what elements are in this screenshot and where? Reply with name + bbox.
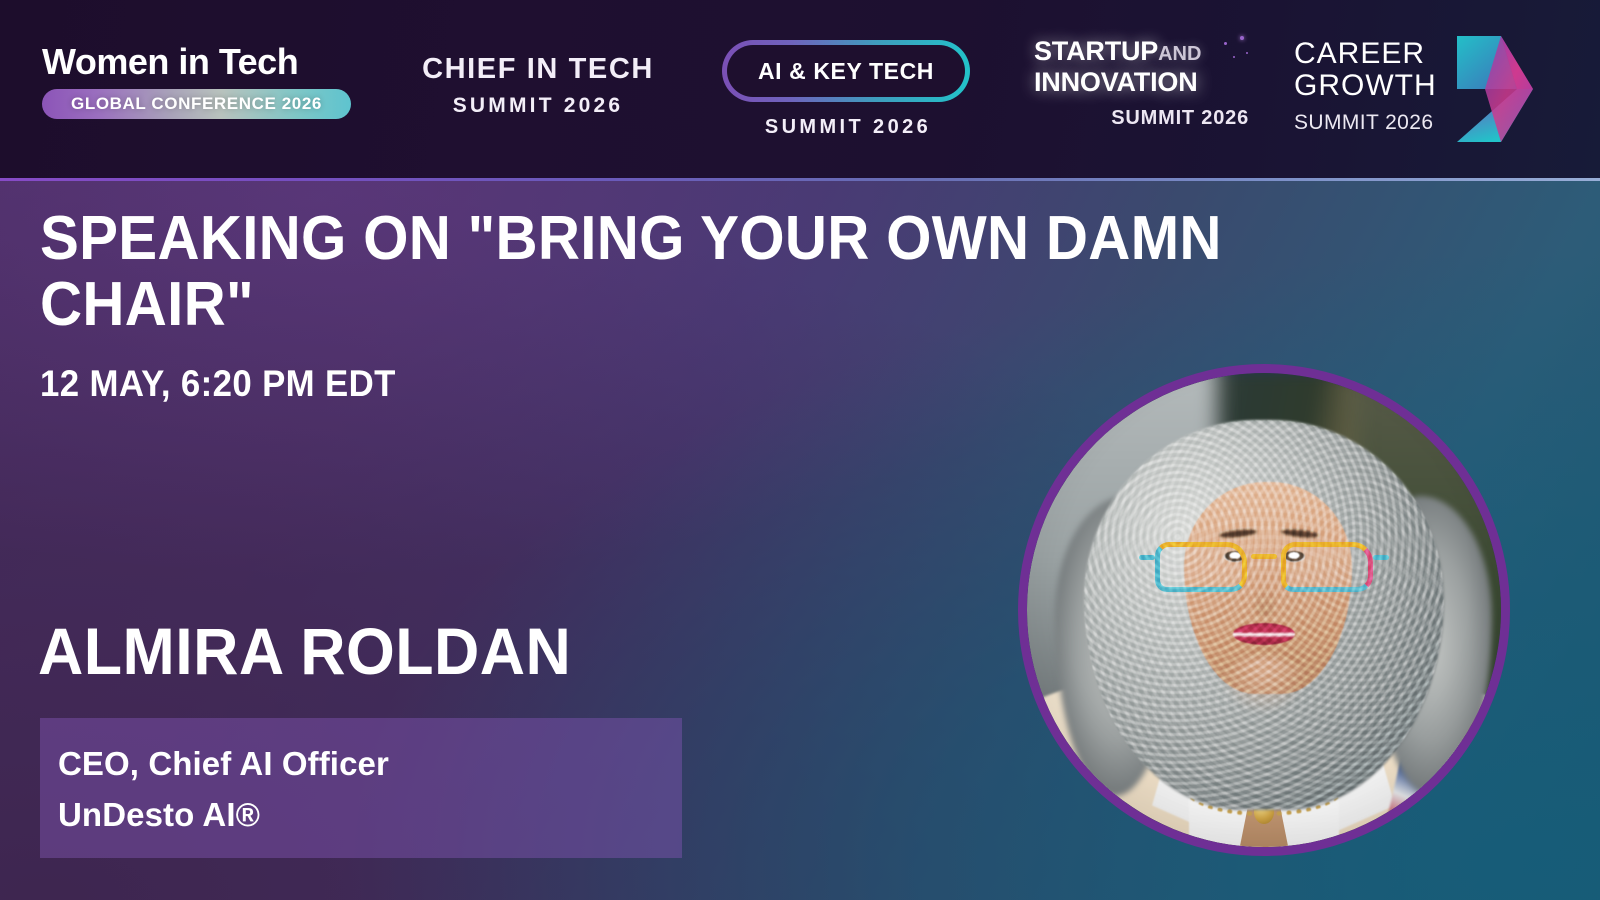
logo-startup-and-innovation-subtitle: SUMMIT 2026 <box>1034 107 1249 130</box>
logo-women-in-tech[interactable]: Women in Tech GLOBAL CONFERENCE 2026 <box>42 44 362 119</box>
logo-ai-and-key-tech-pill-inner: AI & KEY TECH <box>727 45 965 97</box>
logo-chief-in-tech-title: CHIEF IN TECH <box>398 55 678 84</box>
logo-women-in-tech-pill: GLOBAL CONFERENCE 2026 <box>42 89 351 119</box>
sparkle-icon <box>1233 56 1235 58</box>
logo-ai-and-key-tech-pill: AI & KEY TECH <box>722 40 970 102</box>
logo-women-in-tech-title: Women in Tech <box>42 44 362 80</box>
speaker-role-box: CEO, Chief AI Officer UnDesto AI® <box>40 718 682 858</box>
event-promo-banner: Women in Tech GLOBAL CONFERENCE 2026 CHI… <box>0 0 1600 900</box>
session-datetime: 12 MAY, 6:20 PM EDT <box>40 365 396 402</box>
logo-startup-word: STARTUP <box>1034 36 1158 66</box>
logo-ai-and-key-tech-title: AI & KEY TECH <box>758 58 934 85</box>
logo-startup-and-innovation-line1: STARTUPAND <box>1034 38 1249 65</box>
header-divider <box>0 178 1600 181</box>
logo-chief-in-tech-subtitle: SUMMIT 2026 <box>398 95 678 116</box>
speaker-name: ALMIRA ROLDAN <box>38 618 571 684</box>
speaker-role: CEO, Chief AI Officer <box>58 738 682 789</box>
logo-and-word: AND <box>1158 43 1201 65</box>
logo-startup-and-innovation[interactable]: STARTUPAND INNOVATION SUMMIT 2026 <box>1034 38 1249 130</box>
speaker-photo <box>1027 373 1501 847</box>
logo-strip: Women in Tech GLOBAL CONFERENCE 2026 CHI… <box>0 0 1600 181</box>
logo-ai-and-key-tech-subtitle: SUMMIT 2026 <box>722 116 974 139</box>
conference-logo-header: Women in Tech GLOBAL CONFERENCE 2026 CHI… <box>0 0 1600 181</box>
sparkle-icon <box>1246 52 1248 54</box>
sparkle-icon <box>1224 42 1227 45</box>
chevron-arrow-icon <box>1455 34 1535 144</box>
logo-women-in-tech-pill-label: GLOBAL CONFERENCE 2026 <box>71 94 322 114</box>
logo-chief-in-tech[interactable]: CHIEF IN TECH SUMMIT 2026 <box>398 55 678 116</box>
photo-vignette <box>1027 373 1501 847</box>
speaker-company: UnDesto AI® <box>58 789 682 840</box>
logo-ai-and-key-tech[interactable]: AI & KEY TECH SUMMIT 2026 <box>722 40 974 139</box>
logo-innovation-word: INNOVATION <box>1034 69 1249 96</box>
session-title: SPEAKING ON "BRING YOUR OWN DAMN CHAIR" <box>40 206 1394 339</box>
sparkle-icon <box>1240 36 1244 40</box>
speaker-portrait <box>1018 364 1510 856</box>
